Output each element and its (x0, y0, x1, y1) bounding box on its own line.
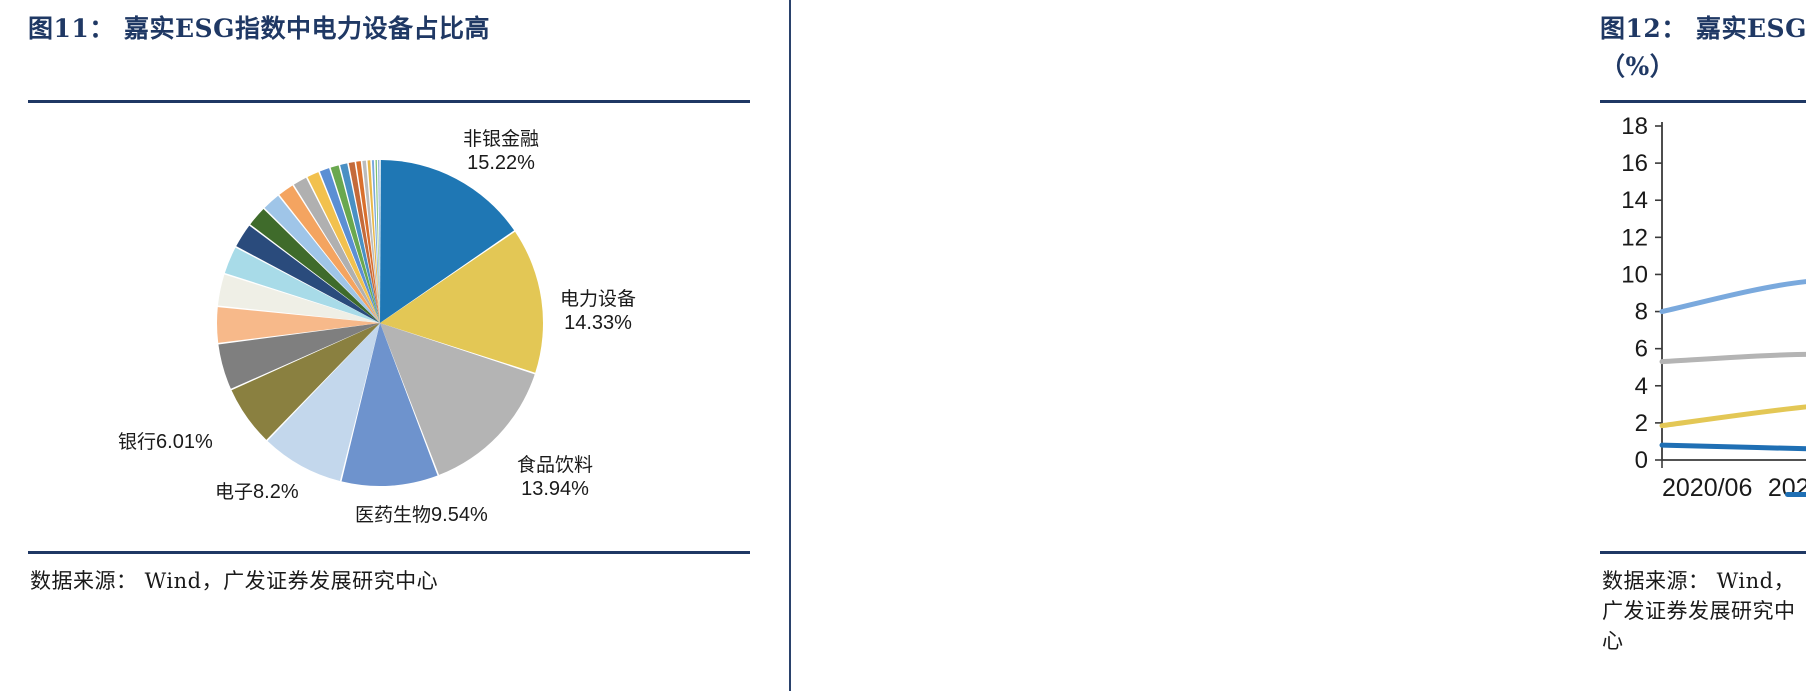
line-chart-svg: 024681012141618 2020/062020/092020/12202… (1600, 108, 1806, 538)
figure-11-title-wrap: 图11： 嘉实ESG指数中电力设备占比高 (28, 10, 758, 48)
line-series-path (1662, 441, 1806, 453)
y-axis-ticks: 024681012141618 (1621, 113, 1662, 474)
figure-12-title-line1: 图12： 嘉实ESG价值指数三大新能源赛道占比走高 (1600, 10, 1806, 48)
pie-label-power-equipment-name: 电力设备 (560, 287, 636, 311)
figure-11-panel: 图11： 嘉实ESG指数中电力设备占比高 非银金融 15.22% 电力设备 14… (0, 0, 790, 691)
y-axis-tick-label: 12 (1621, 224, 1648, 251)
pie-label-nonbank-financial-value: 15.22% (463, 151, 539, 175)
pie-chart: 非银金融 15.22% 电力设备 14.33% 食品饮料 13.94% 医药生物… (0, 105, 790, 545)
pie-label-bank-name: 银行 (118, 431, 156, 453)
y-axis-tick-label: 14 (1621, 187, 1648, 214)
legend-swatch-icon (1785, 492, 1806, 497)
pie-label-pharma-bio: 医药生物9.54% (355, 503, 488, 527)
pie-label-bank: 银行6.01% (118, 430, 213, 454)
figure-12-source-rule (1600, 551, 1806, 554)
pie-label-food-beverage-name: 食品饮料 (517, 453, 593, 477)
figure-12-panel: 图12： 嘉实ESG价值指数三大新能源赛道占比走高 （%） 0246810121… (790, 0, 1806, 691)
y-axis-tick-label: 2 (1635, 410, 1648, 437)
figure-11-title: 图11： 嘉实ESG指数中电力设备占比高 (28, 10, 758, 48)
figure-12-title-line2: （%） (1600, 48, 1806, 86)
pie-label-nonbank-financial: 非银金融 15.22% (463, 127, 539, 175)
y-axis-tick-label: 6 (1635, 336, 1648, 363)
line-series (1662, 161, 1806, 453)
line-chart-legend: 风电光伏新能源汽车新能源+风光 (1650, 480, 1806, 509)
pie-label-electronics-value: 8.2% (253, 481, 299, 503)
y-axis-tick-label: 4 (1635, 373, 1648, 400)
line-series-path (1662, 352, 1806, 426)
figure-page: 图11： 嘉实ESG指数中电力设备占比高 非银金融 15.22% 电力设备 14… (0, 0, 1806, 691)
pie-label-pharma-bio-value: 9.54% (431, 504, 488, 526)
y-axis-tick-label: 10 (1621, 261, 1648, 288)
pie-label-electronics-name: 电子 (215, 481, 253, 503)
figure-12-title-wrap: 图12： 嘉实ESG价值指数三大新能源赛道占比走高 （%） (1600, 10, 1806, 86)
figure-12-source: 数据来源： Wind，广发证券发展研究中心 (1602, 565, 1806, 655)
pie-chart-svg (0, 105, 790, 545)
line-chart: 024681012141618 2020/062020/092020/12202… (1600, 108, 1806, 538)
pie-slice (378, 160, 380, 323)
y-axis-tick-label: 0 (1635, 447, 1648, 474)
pie-label-bank-value: 6.01% (156, 431, 213, 453)
figure-11-title-rule (28, 100, 750, 103)
figure-12-title-rule (1600, 100, 1806, 103)
pie-label-nonbank-financial-name: 非银金融 (463, 127, 539, 151)
pie-label-food-beverage: 食品饮料 13.94% (517, 453, 593, 501)
y-axis-tick-label: 8 (1635, 299, 1648, 326)
y-axis-tick-label: 18 (1621, 113, 1648, 140)
pie-label-food-beverage-value: 13.94% (517, 477, 593, 501)
figure-11-source-rule (28, 551, 750, 554)
figure-11-source: 数据来源： Wind，广发证券发展研究中心 (30, 565, 438, 595)
y-axis-tick-label: 16 (1621, 150, 1648, 177)
legend-item[interactable]: 风电 (1785, 480, 1806, 509)
pie-label-power-equipment-value: 14.33% (560, 311, 636, 335)
line-series-path (1662, 161, 1806, 311)
pie-slices (217, 160, 543, 486)
pie-label-pharma-bio-name: 医药生物 (355, 504, 431, 526)
pie-label-power-equipment: 电力设备 14.33% (560, 287, 636, 335)
pie-label-electronics: 电子8.2% (215, 480, 299, 504)
